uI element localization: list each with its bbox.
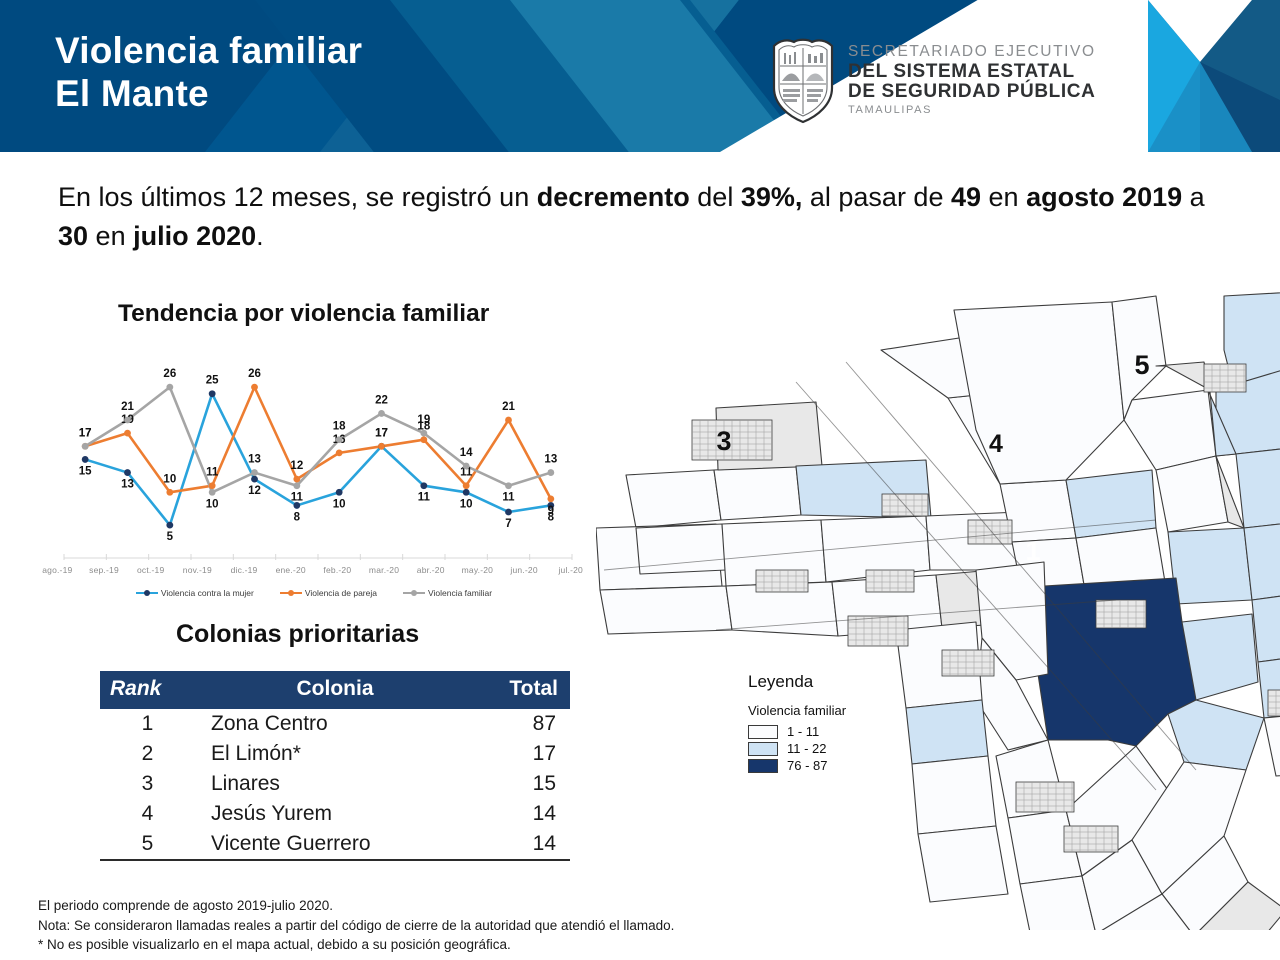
footnote-asterisk: * No es posible visualizarlo en el mapa … xyxy=(38,935,838,955)
intro-seg-2: del xyxy=(690,182,741,212)
legend-label-1: Violencia de pareja xyxy=(305,588,377,598)
svg-text:25: 25 xyxy=(206,375,219,387)
legend-swatch-1 xyxy=(280,592,302,594)
logo-wordmark: SECRETARIADO EJECUTIVO DEL SISTEMA ESTAT… xyxy=(848,44,1096,116)
svg-text:10: 10 xyxy=(333,498,346,510)
map-legend-label-1: 11 - 22 xyxy=(787,741,827,756)
intro-bold-pct: 39%, xyxy=(741,182,803,212)
chart-x-axis-labels: ago.-19sep.-19oct.-19nov.-19dic.-19ene.-… xyxy=(34,565,594,575)
table-header-row: Rank Colonia Total xyxy=(100,671,570,709)
cell-colonia-4: Vicente Guerrero xyxy=(195,829,475,860)
map-region-label-4: 4 xyxy=(989,430,1003,458)
table-row[interactable]: 2El Limón*17 xyxy=(100,739,570,769)
svg-text:14: 14 xyxy=(460,447,473,459)
cell-total-2: 15 xyxy=(475,769,570,799)
table-row[interactable]: 3Linares15 xyxy=(100,769,570,799)
x-tick-11: jul.-20 xyxy=(547,565,594,575)
intro-seg-1: En los últimos 12 meses, se registró un xyxy=(58,182,537,212)
intro-bold-month-to: julio 2020 xyxy=(133,221,256,251)
trend-chart-svg: 1513525128101711107817191011261216171811… xyxy=(34,340,594,590)
svg-text:13: 13 xyxy=(121,479,134,491)
slide-root: Violencia familiar El Mante xyxy=(0,0,1280,960)
colonias-table: Rank Colonia Total 1Zona Centro872El Lim… xyxy=(100,671,570,861)
svg-text:11: 11 xyxy=(206,467,219,479)
svg-text:13: 13 xyxy=(544,454,557,466)
cell-colonia-3: Jesús Yurem xyxy=(195,799,475,829)
logo-line-4: TAMAULIPAS xyxy=(848,105,1096,116)
legend-label-0: Violencia contra la mujer xyxy=(161,588,254,598)
svg-text:15: 15 xyxy=(79,465,92,477)
cell-rank-4: 5 xyxy=(100,829,195,860)
cell-rank-1: 2 xyxy=(100,739,195,769)
choropleth-map: 1345 xyxy=(596,270,1280,930)
cell-colonia-2: Linares xyxy=(195,769,475,799)
chart-title: Tendencia por violencia familiar xyxy=(118,300,489,328)
svg-text:11: 11 xyxy=(418,492,431,504)
column-header-rank: Rank xyxy=(100,671,195,709)
x-tick-10: jun.-20 xyxy=(501,565,548,575)
legend-item-1[interactable]: Violencia de pareja xyxy=(280,588,377,598)
intro-seg-7: . xyxy=(256,221,264,251)
intro-bold-decremento: decremento xyxy=(537,182,690,212)
svg-text:7: 7 xyxy=(505,518,511,530)
logo-line-2: DEL SISTEMA ESTATAL xyxy=(848,62,1096,81)
map-region-label-1: 1 xyxy=(1025,536,1040,566)
intro-seg-3: al pasar de xyxy=(802,182,951,212)
x-tick-2: oct.-19 xyxy=(127,565,174,575)
cell-total-0: 87 xyxy=(475,709,570,739)
svg-text:10: 10 xyxy=(206,498,219,510)
legend-swatch-0 xyxy=(136,592,158,594)
intro-bold-month-from: agosto 2019 xyxy=(1026,182,1182,212)
title-line-1: Violencia familiar xyxy=(55,30,362,73)
table-row[interactable]: 5Vicente Guerrero14 xyxy=(100,829,570,860)
svg-text:13: 13 xyxy=(248,454,261,466)
map-legend-label-2: 76 - 87 xyxy=(787,758,827,773)
x-tick-4: dic.-19 xyxy=(221,565,268,575)
legend-label-2: Violencia familiar xyxy=(428,588,492,598)
cell-total-1: 17 xyxy=(475,739,570,769)
intro-seg-4: en xyxy=(981,182,1026,212)
map-legend-swatch-0 xyxy=(748,725,778,739)
institution-logo: SECRETARIADO EJECUTIVO DEL SISTEMA ESTAT… xyxy=(770,36,1096,124)
svg-text:18: 18 xyxy=(333,421,346,433)
colonias-title: Colonias prioritarias xyxy=(176,620,419,649)
svg-text:5: 5 xyxy=(167,531,174,543)
x-tick-9: may.-20 xyxy=(454,565,501,575)
x-tick-6: feb.-20 xyxy=(314,565,361,575)
table-body: 1Zona Centro872El Limón*173Linares154Jes… xyxy=(100,709,570,860)
cell-rank-0: 1 xyxy=(100,709,195,739)
cell-total-3: 14 xyxy=(475,799,570,829)
cell-total-4: 14 xyxy=(475,829,570,860)
cell-colonia-0: Zona Centro xyxy=(195,709,475,739)
x-tick-3: nov.-19 xyxy=(174,565,221,575)
map-legend-subheading: Violencia familiar xyxy=(748,703,846,718)
legend-item-0[interactable]: Violencia contra la mujer xyxy=(136,588,254,598)
logo-line-1: SECRETARIADO EJECUTIVO xyxy=(848,44,1096,60)
page-title: Violencia familiar El Mante xyxy=(55,30,362,116)
intro-bold-to: 30 xyxy=(58,221,88,251)
decorative-v-mark xyxy=(1120,0,1280,152)
title-line-2: El Mante xyxy=(55,73,362,116)
svg-text:12: 12 xyxy=(248,485,261,497)
coat-of-arms-icon xyxy=(770,36,836,124)
x-tick-7: mar.-20 xyxy=(361,565,408,575)
svg-text:19: 19 xyxy=(417,414,430,426)
map-legend-heading: Leyenda xyxy=(748,672,846,692)
intro-bold-from: 49 xyxy=(951,182,981,212)
svg-text:21: 21 xyxy=(121,401,134,413)
legend-marker-1 xyxy=(288,590,294,596)
map-legend-items: 1 - 1111 - 2276 - 87 xyxy=(748,724,846,773)
svg-text:8: 8 xyxy=(294,511,301,523)
intro-seg-5: a xyxy=(1182,182,1205,212)
table-row[interactable]: 4Jesús Yurem14 xyxy=(100,799,570,829)
svg-text:11: 11 xyxy=(502,492,515,504)
legend-marker-0 xyxy=(144,590,150,596)
svg-text:26: 26 xyxy=(248,368,261,380)
svg-text:22: 22 xyxy=(375,394,388,406)
map-legend-row-2[interactable]: 76 - 87 xyxy=(748,758,846,773)
legend-swatch-2 xyxy=(403,592,425,594)
column-header-colonia: Colonia xyxy=(195,671,475,709)
legend-marker-2 xyxy=(411,590,417,596)
map-region-label-3: 3 xyxy=(716,426,731,456)
svg-text:11: 11 xyxy=(291,492,304,504)
svg-text:17: 17 xyxy=(375,427,388,439)
map-legend-swatch-1 xyxy=(748,742,778,756)
svg-text:21: 21 xyxy=(502,401,515,413)
cell-rank-2: 3 xyxy=(100,769,195,799)
cell-colonia-1: El Limón* xyxy=(195,739,475,769)
column-header-total: Total xyxy=(475,671,570,709)
trend-chart: 1513525128101711107817191011261216171811… xyxy=(34,340,594,590)
table-row[interactable]: 1Zona Centro87 xyxy=(100,709,570,739)
summary-paragraph: En los últimos 12 meses, se registró un … xyxy=(58,178,1238,256)
x-tick-5: ene.-20 xyxy=(267,565,314,575)
svg-text:10: 10 xyxy=(163,473,176,485)
svg-text:17: 17 xyxy=(79,427,92,439)
x-tick-8: abr.-20 xyxy=(407,565,454,575)
cell-rank-3: 4 xyxy=(100,799,195,829)
x-tick-1: sep.-19 xyxy=(81,565,128,575)
map-legend-row-1[interactable]: 11 - 22 xyxy=(748,741,846,756)
legend-item-2[interactable]: Violencia familiar xyxy=(403,588,492,598)
logo-line-3: DE SEGURIDAD PÚBLICA xyxy=(848,82,1096,101)
svg-text:26: 26 xyxy=(163,368,176,380)
choropleth-map-svg: 1345 xyxy=(596,270,1280,930)
map-region-label-5: 5 xyxy=(1134,350,1149,380)
x-tick-0: ago.-19 xyxy=(34,565,81,575)
svg-text:10: 10 xyxy=(460,498,473,510)
map-legend-row-0[interactable]: 1 - 11 xyxy=(748,724,846,739)
map-legend-label-0: 1 - 11 xyxy=(787,724,819,739)
map-legend-swatch-2 xyxy=(748,759,778,773)
map-legend: Leyenda Violencia familiar 1 - 1111 - 22… xyxy=(748,672,846,775)
svg-text:9: 9 xyxy=(548,505,554,517)
intro-seg-6: en xyxy=(88,221,133,251)
chart-legend: Violencia contra la mujerViolencia de pa… xyxy=(34,588,594,598)
svg-text:12: 12 xyxy=(290,460,303,472)
